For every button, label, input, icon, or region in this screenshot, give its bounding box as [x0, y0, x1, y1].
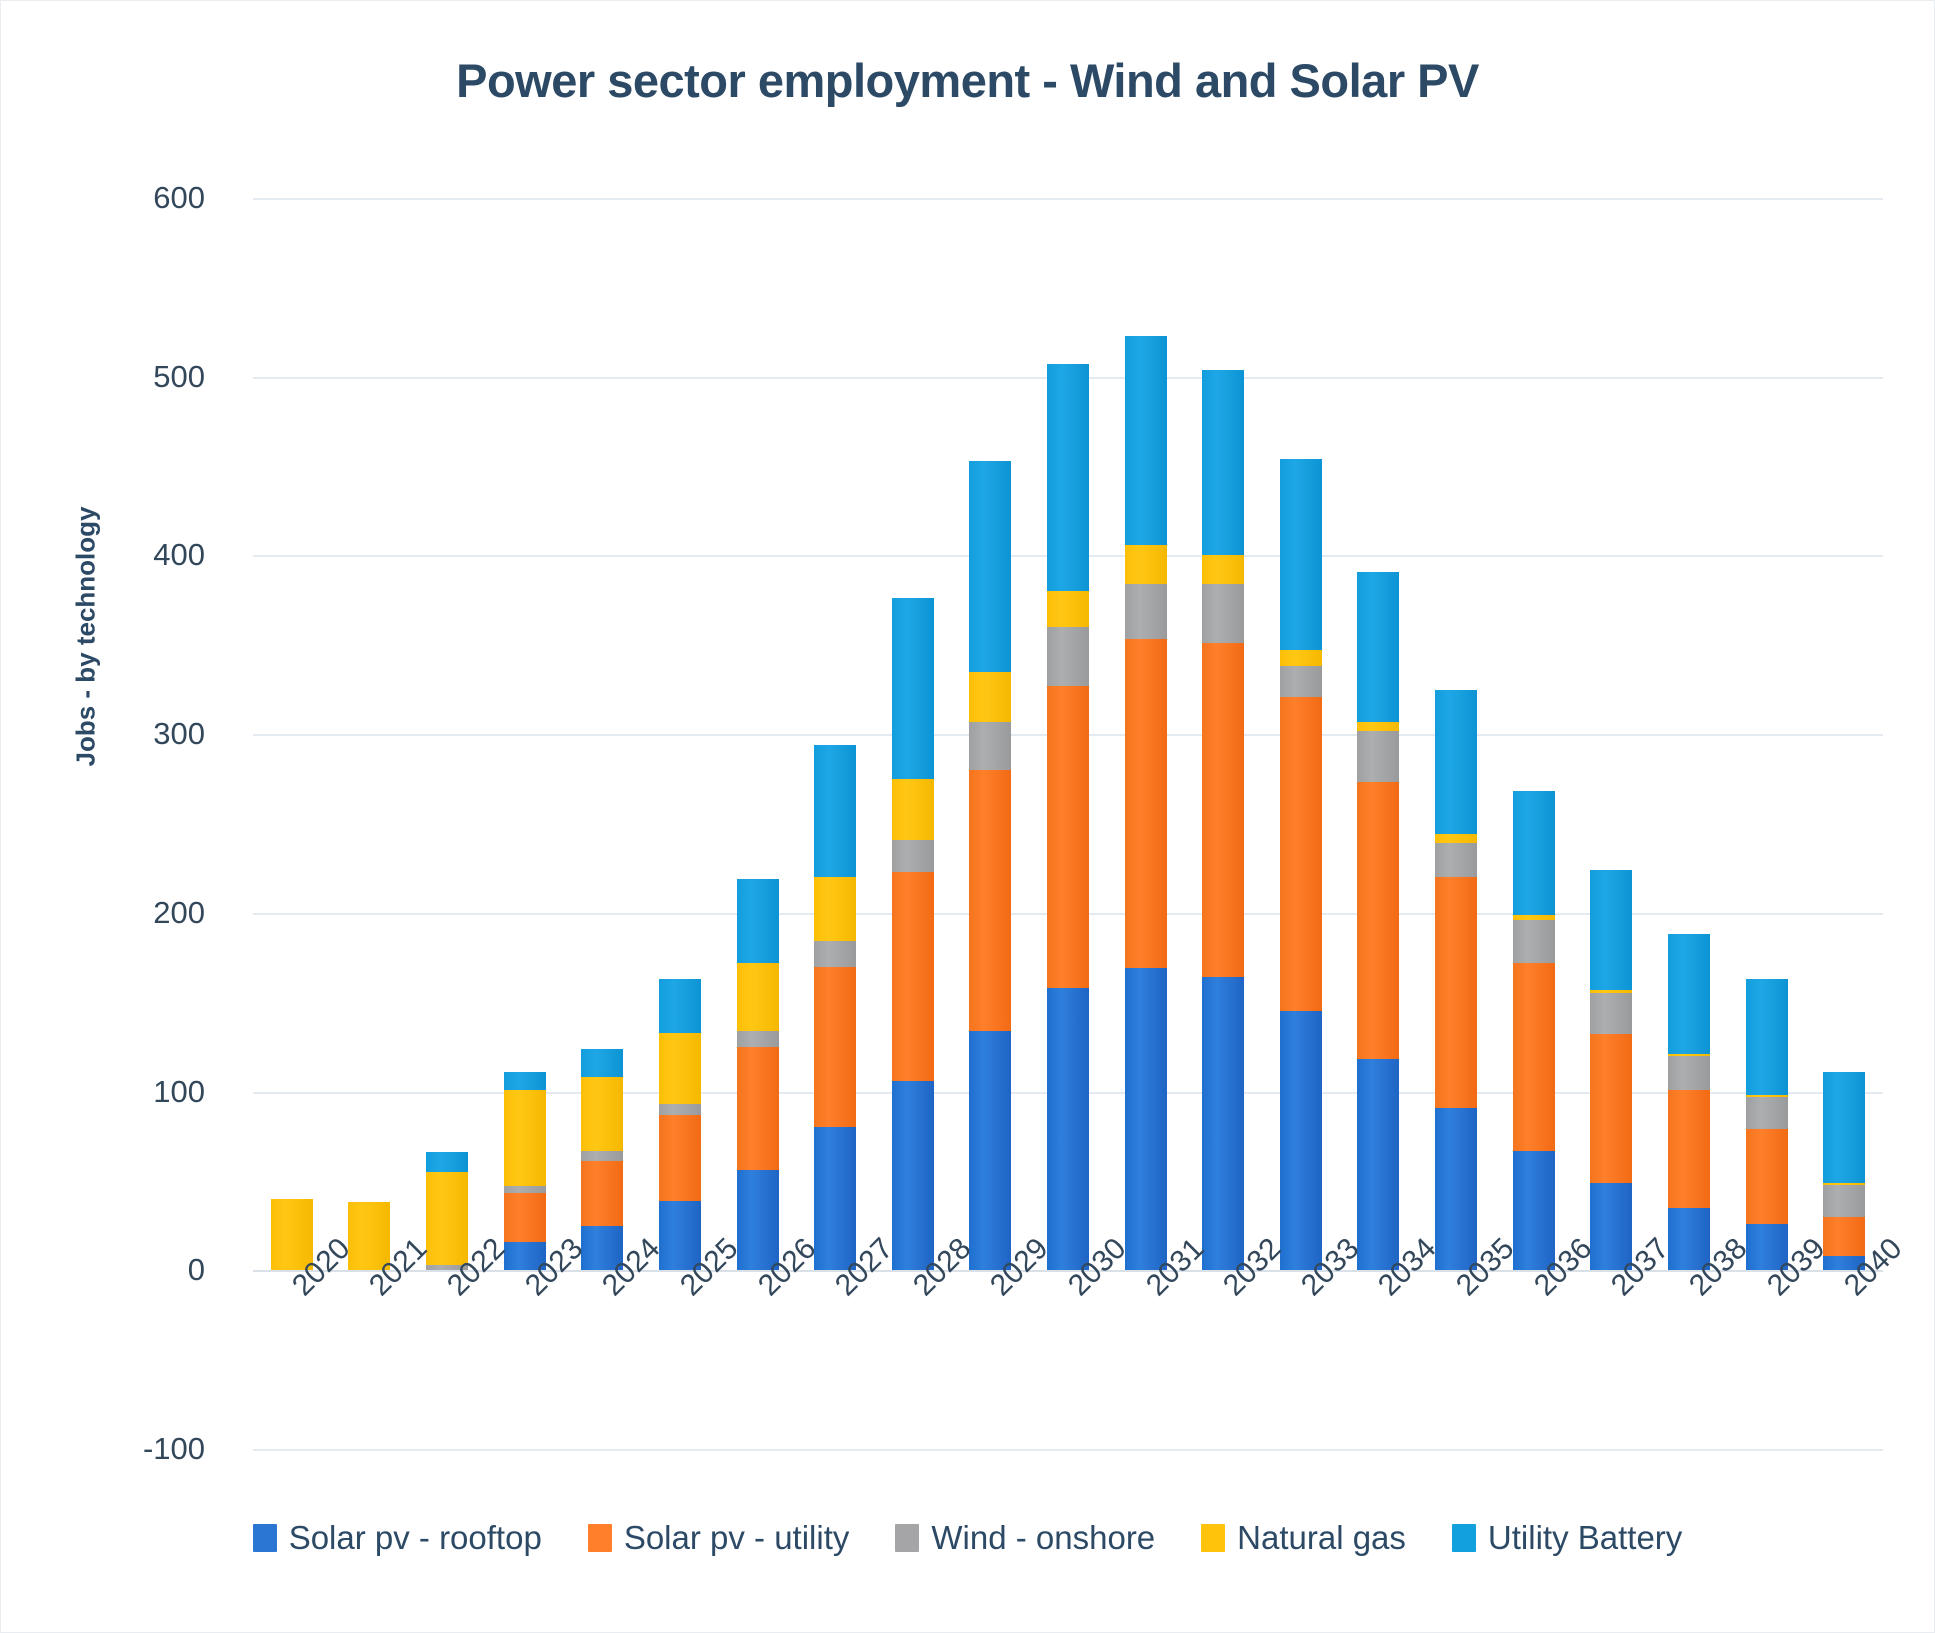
bar-segment-gas-2031[interactable] — [1125, 545, 1167, 584]
bar-segment-wind-2040[interactable] — [1823, 1185, 1865, 1217]
bar-segment-battery-2032[interactable] — [1202, 370, 1244, 556]
bar-segment-battery-2030[interactable] — [1047, 364, 1089, 591]
bar-segment-gas-2028[interactable] — [892, 779, 934, 840]
legend-label-utility: Solar pv - utility — [624, 1519, 850, 1557]
bar-segment-gas-2038[interactable] — [1668, 1054, 1710, 1056]
bar-segment-rooftop-2028[interactable] — [892, 1081, 934, 1270]
bar-segment-utility-2025[interactable] — [659, 1115, 701, 1201]
y-tick-label-600: 600 — [153, 180, 205, 216]
bar-segment-battery-2026[interactable] — [737, 879, 779, 963]
bar-segment-utility-2032[interactable] — [1202, 643, 1244, 977]
legend-item-gas[interactable]: Natural gas — [1201, 1519, 1406, 1557]
legend-swatch-wind-icon — [895, 1524, 919, 1552]
y-tick-label--100: -100 — [143, 1431, 205, 1467]
bar-segment-wind-2037[interactable] — [1590, 993, 1632, 1034]
bar-segment-rooftop-2031[interactable] — [1125, 968, 1167, 1270]
bar-segment-utility-2039[interactable] — [1746, 1129, 1788, 1224]
legend-item-utility[interactable]: Solar pv - utility — [588, 1519, 850, 1557]
y-tick-label-500: 500 — [153, 359, 205, 395]
y-tick-label-100: 100 — [153, 1074, 205, 1110]
bar-segment-wind-2032[interactable] — [1202, 584, 1244, 643]
bar-segment-utility-2026[interactable] — [737, 1047, 779, 1170]
bar-segment-utility-2029[interactable] — [969, 770, 1011, 1031]
bar-segment-gas-2037[interactable] — [1590, 990, 1632, 994]
legend-item-battery[interactable]: Utility Battery — [1452, 1519, 1682, 1557]
bar-segment-utility-2031[interactable] — [1125, 639, 1167, 968]
bar-segment-rooftop-2027[interactable] — [814, 1127, 856, 1270]
bar-segment-wind-2025[interactable] — [659, 1104, 701, 1115]
bar-segment-rooftop-2036[interactable] — [1513, 1151, 1555, 1271]
bar-segment-gas-2033[interactable] — [1280, 650, 1322, 666]
bar-segment-gas-2023[interactable] — [504, 1090, 546, 1187]
bar-segment-utility-2033[interactable] — [1280, 697, 1322, 1012]
bar-segment-battery-2037[interactable] — [1590, 870, 1632, 990]
bar-segment-utility-2036[interactable] — [1513, 963, 1555, 1151]
bar-segment-rooftop-2035[interactable] — [1435, 1108, 1477, 1271]
bar-segment-gas-2024[interactable] — [581, 1077, 623, 1150]
bar-segment-utility-2034[interactable] — [1357, 782, 1399, 1059]
gridline--100 — [253, 1449, 1883, 1451]
bar-segment-battery-2033[interactable] — [1280, 459, 1322, 650]
legend-item-wind[interactable]: Wind - onshore — [895, 1519, 1155, 1557]
legend-swatch-utility-icon — [588, 1524, 612, 1552]
bar-segment-gas-2026[interactable] — [737, 963, 779, 1031]
bar-segment-utility-2037[interactable] — [1590, 1034, 1632, 1182]
bar-segment-wind-2039[interactable] — [1746, 1097, 1788, 1129]
bar-segment-battery-2029[interactable] — [969, 461, 1011, 672]
bar-segment-gas-2029[interactable] — [969, 672, 1011, 722]
y-axis-tick-labels: 6005004003002001000-100 — [1, 1, 223, 1633]
bar-segment-wind-2031[interactable] — [1125, 584, 1167, 639]
bar-segment-gas-2035[interactable] — [1435, 834, 1477, 843]
bar-segment-battery-2023[interactable] — [504, 1072, 546, 1090]
bar-segment-wind-2030[interactable] — [1047, 627, 1089, 686]
legend-label-wind: Wind - onshore — [931, 1519, 1155, 1557]
bar-segment-gas-2040[interactable] — [1823, 1183, 1865, 1185]
bar-segment-gas-2034[interactable] — [1357, 722, 1399, 731]
bar-segment-wind-2028[interactable] — [892, 840, 934, 872]
bar-segment-utility-2028[interactable] — [892, 872, 934, 1081]
bar-segment-utility-2040[interactable] — [1823, 1217, 1865, 1256]
bar-segment-wind-2027[interactable] — [814, 941, 856, 966]
y-tick-label-400: 400 — [153, 537, 205, 573]
bar-segment-gas-2030[interactable] — [1047, 591, 1089, 627]
bar-segment-gas-2022[interactable] — [426, 1172, 468, 1265]
bar-segment-rooftop-2032[interactable] — [1202, 977, 1244, 1270]
legend-swatch-battery-icon — [1452, 1524, 1476, 1552]
bar-segment-utility-2024[interactable] — [581, 1161, 623, 1225]
y-tick-label-0: 0 — [188, 1252, 205, 1288]
legend-label-rooftop: Solar pv - rooftop — [289, 1519, 542, 1557]
bar-segment-battery-2035[interactable] — [1435, 690, 1477, 835]
bar-segment-wind-2036[interactable] — [1513, 920, 1555, 963]
bar-segment-battery-2031[interactable] — [1125, 336, 1167, 545]
legend-label-gas: Natural gas — [1237, 1519, 1406, 1557]
bar-segment-rooftop-2033[interactable] — [1280, 1011, 1322, 1270]
bar-segment-gas-2032[interactable] — [1202, 555, 1244, 584]
bar-segment-wind-2034[interactable] — [1357, 731, 1399, 783]
legend-label-battery: Utility Battery — [1488, 1519, 1682, 1557]
bar-segment-battery-2025[interactable] — [659, 979, 701, 1033]
page-title: Power sector employment - Wind and Solar… — [1, 53, 1934, 108]
bar-segment-battery-2036[interactable] — [1513, 791, 1555, 914]
bar-segment-wind-2038[interactable] — [1668, 1056, 1710, 1090]
bar-segment-wind-2033[interactable] — [1280, 666, 1322, 696]
legend-item-rooftop[interactable]: Solar pv - rooftop — [253, 1519, 542, 1557]
legend-swatch-rooftop-icon — [253, 1524, 277, 1552]
y-tick-label-200: 200 — [153, 895, 205, 931]
bar-segment-wind-2023[interactable] — [504, 1186, 546, 1193]
bar-segment-wind-2026[interactable] — [737, 1031, 779, 1047]
bar-segment-battery-2034[interactable] — [1357, 572, 1399, 722]
bar-segment-gas-2027[interactable] — [814, 877, 856, 941]
bar-segment-rooftop-2034[interactable] — [1357, 1059, 1399, 1270]
bar-segment-rooftop-2030[interactable] — [1047, 988, 1089, 1270]
chart-legend: Solar pv - rooftopSolar pv - utilityWind… — [1, 1519, 1934, 1557]
bar-segment-utility-2030[interactable] — [1047, 686, 1089, 988]
y-tick-label-300: 300 — [153, 716, 205, 752]
chart-canvas: Power sector employment - Wind and Solar… — [0, 0, 1935, 1633]
bar-segment-battery-2022[interactable] — [426, 1152, 468, 1172]
bar-segment-utility-2035[interactable] — [1435, 877, 1477, 1108]
bar-segment-battery-2038[interactable] — [1668, 934, 1710, 1054]
bar-segment-utility-2027[interactable] — [814, 967, 856, 1128]
bar-segment-wind-2035[interactable] — [1435, 843, 1477, 877]
bar-segment-utility-2023[interactable] — [504, 1193, 546, 1241]
bar-segment-battery-2027[interactable] — [814, 745, 856, 877]
bar-segment-utility-2038[interactable] — [1668, 1090, 1710, 1208]
bar-segment-gas-2039[interactable] — [1746, 1095, 1788, 1097]
bar-segment-gas-2025[interactable] — [659, 1033, 701, 1104]
legend-swatch-gas-icon — [1201, 1524, 1225, 1552]
x-axis-tick-labels: 2020202120222023202420252026202720282029… — [253, 1279, 1883, 1439]
bar-segment-rooftop-2029[interactable] — [969, 1031, 1011, 1270]
bar-segment-battery-2040[interactable] — [1823, 1072, 1865, 1183]
bar-segment-battery-2039[interactable] — [1746, 979, 1788, 1095]
bar-segment-battery-2024[interactable] — [581, 1049, 623, 1078]
bar-segment-wind-2024[interactable] — [581, 1151, 623, 1162]
bar-segment-gas-2036[interactable] — [1513, 915, 1555, 920]
bar-segment-wind-2029[interactable] — [969, 722, 1011, 770]
bar-segment-battery-2028[interactable] — [892, 598, 934, 779]
